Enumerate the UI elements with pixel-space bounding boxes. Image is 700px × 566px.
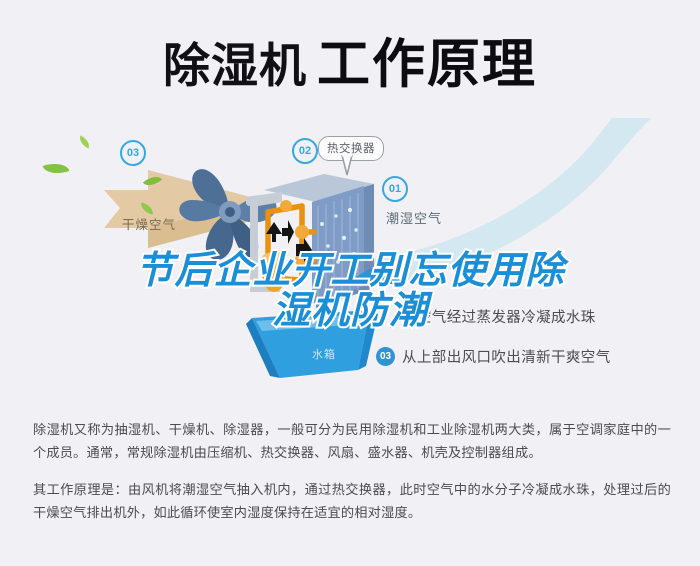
step-item: 02 湿空气经过蒸发器冷凝成水珠 — [376, 296, 686, 336]
water-tank-label: 水箱 — [312, 346, 336, 362]
step-text: 从上部出风口吹出清新干爽空气 — [402, 346, 611, 367]
page-title: 除湿机工作原理 — [0, 22, 700, 98]
illustration-badge-02: 02 — [292, 138, 318, 164]
paragraph-definition: 除湿机又称为抽湿机、干燥机、除湿器，一般可分为民用除湿机和工业除湿机两大类，属于… — [33, 418, 671, 464]
leaf-icon — [77, 135, 92, 148]
air-intake-arrow-icon — [356, 266, 404, 288]
callout-tail-icon — [340, 155, 354, 177]
dry-air-label: 干燥空气 — [122, 214, 176, 233]
illustration-badge-01: 01 — [382, 176, 408, 202]
page-title-part2: 工作原理 — [317, 35, 537, 94]
step-list: 02 湿空气经过蒸发器冷凝成水珠 03 从上部出风口吹出清新干爽空气 — [376, 296, 686, 376]
paragraph-principle: 其工作原理是：由风机将潮湿空气抽入机内，通过热交换器，此时空气中的水分子冷凝成水… — [33, 478, 671, 524]
page-title-part1: 除湿机 — [163, 39, 307, 92]
body-copy: 除湿机又称为抽湿机、干燥机、除湿器，一般可分为民用除湿机和工业除湿机两大类，属于… — [33, 418, 671, 538]
step-badge: 03 — [376, 347, 395, 366]
illustration-badge-03: 03 — [120, 140, 146, 166]
infographic-page: 除湿机工作原理 干燥空气 03 — [0, 0, 700, 566]
step-text: 湿空气经过蒸发器冷凝成水珠 — [402, 306, 596, 327]
step-item: 03 从上部出风口吹出清新干爽空气 — [376, 336, 686, 376]
moist-air-label: 潮湿空气 — [386, 208, 442, 227]
